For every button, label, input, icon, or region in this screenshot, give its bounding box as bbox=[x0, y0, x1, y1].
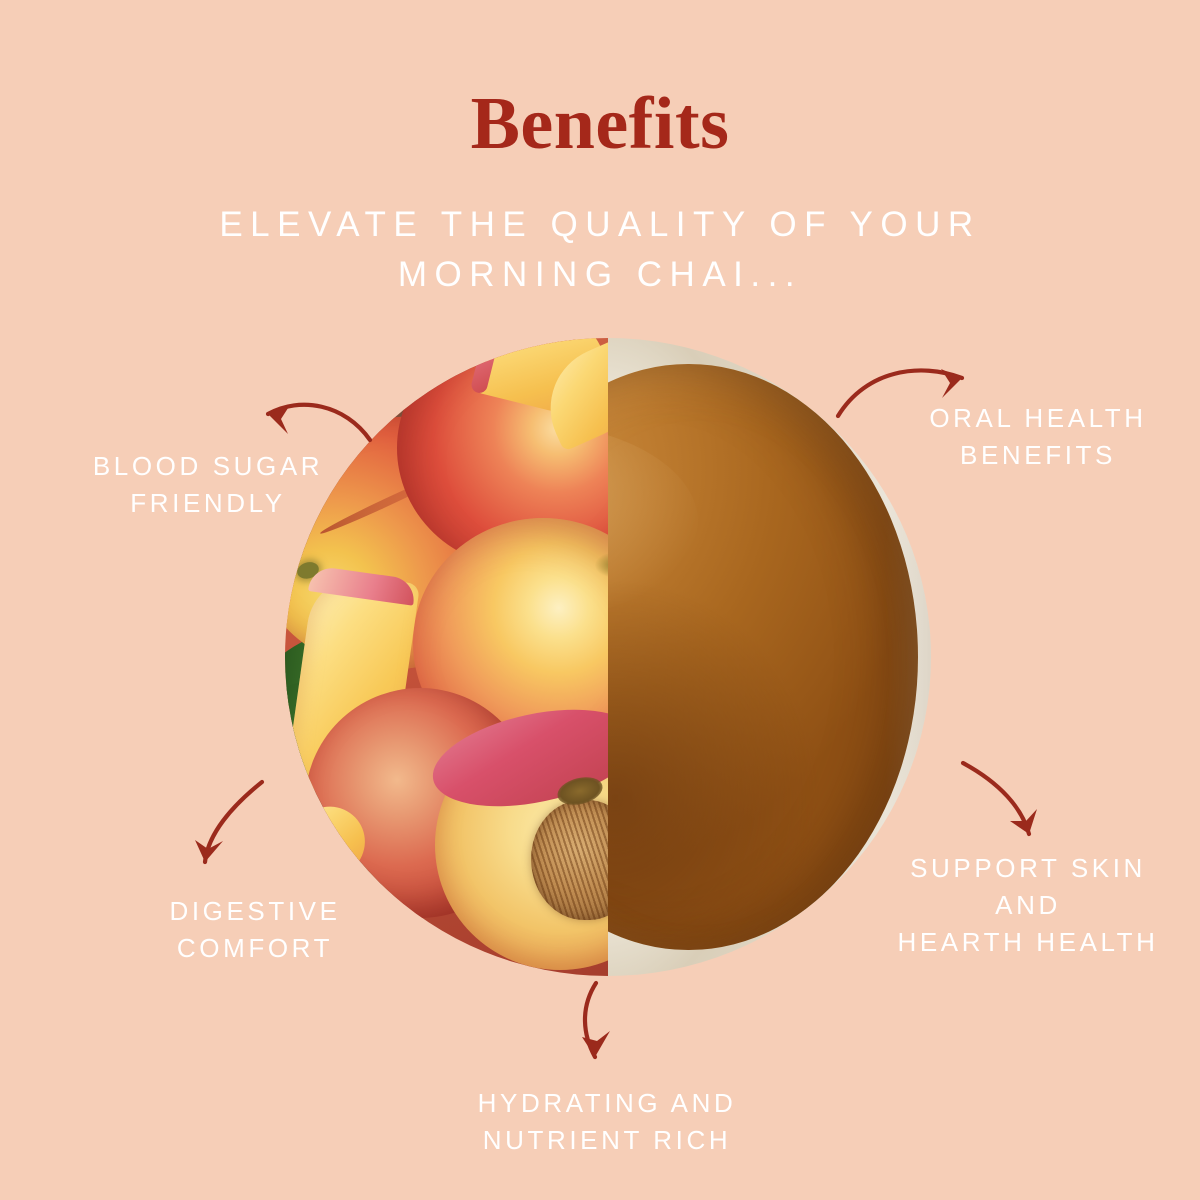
hero-half-peaches bbox=[285, 338, 608, 976]
peach-dimple bbox=[595, 552, 608, 578]
arrowhead-digestive bbox=[195, 840, 223, 862]
benefit-label-blood-sugar: BLOOD SUGAR FRIENDLY bbox=[58, 448, 358, 522]
page-title: Benefits bbox=[0, 82, 1200, 167]
page-subtitle: ELEVATE THE QUALITY OF YOUR MORNING CHAI… bbox=[150, 200, 1050, 299]
arrow-curve-hydrating bbox=[585, 983, 596, 1057]
benefit-label-digestive: DIGESTIVE COMFORT bbox=[110, 893, 400, 967]
hero-split-circle-image bbox=[285, 338, 931, 976]
benefit-label-oral-health: ORAL HEALTH BENEFITS bbox=[898, 400, 1178, 474]
arrow-curve-skin-heart bbox=[963, 763, 1029, 834]
benefit-label-hydrating: HYDRATING AND NUTRIENT RICH bbox=[452, 1085, 762, 1159]
tea-surface-sheen bbox=[608, 422, 698, 622]
arrowhead-oral-health bbox=[941, 369, 962, 398]
arrow-curve-digestive bbox=[205, 782, 262, 862]
arrowhead-hydrating bbox=[582, 1031, 610, 1057]
arrowhead-skin-heart bbox=[1010, 809, 1037, 834]
benefit-label-skin-heart: SUPPORT SKIN AND HEARTH HEALTH bbox=[878, 850, 1178, 961]
peach-pit bbox=[531, 800, 608, 920]
